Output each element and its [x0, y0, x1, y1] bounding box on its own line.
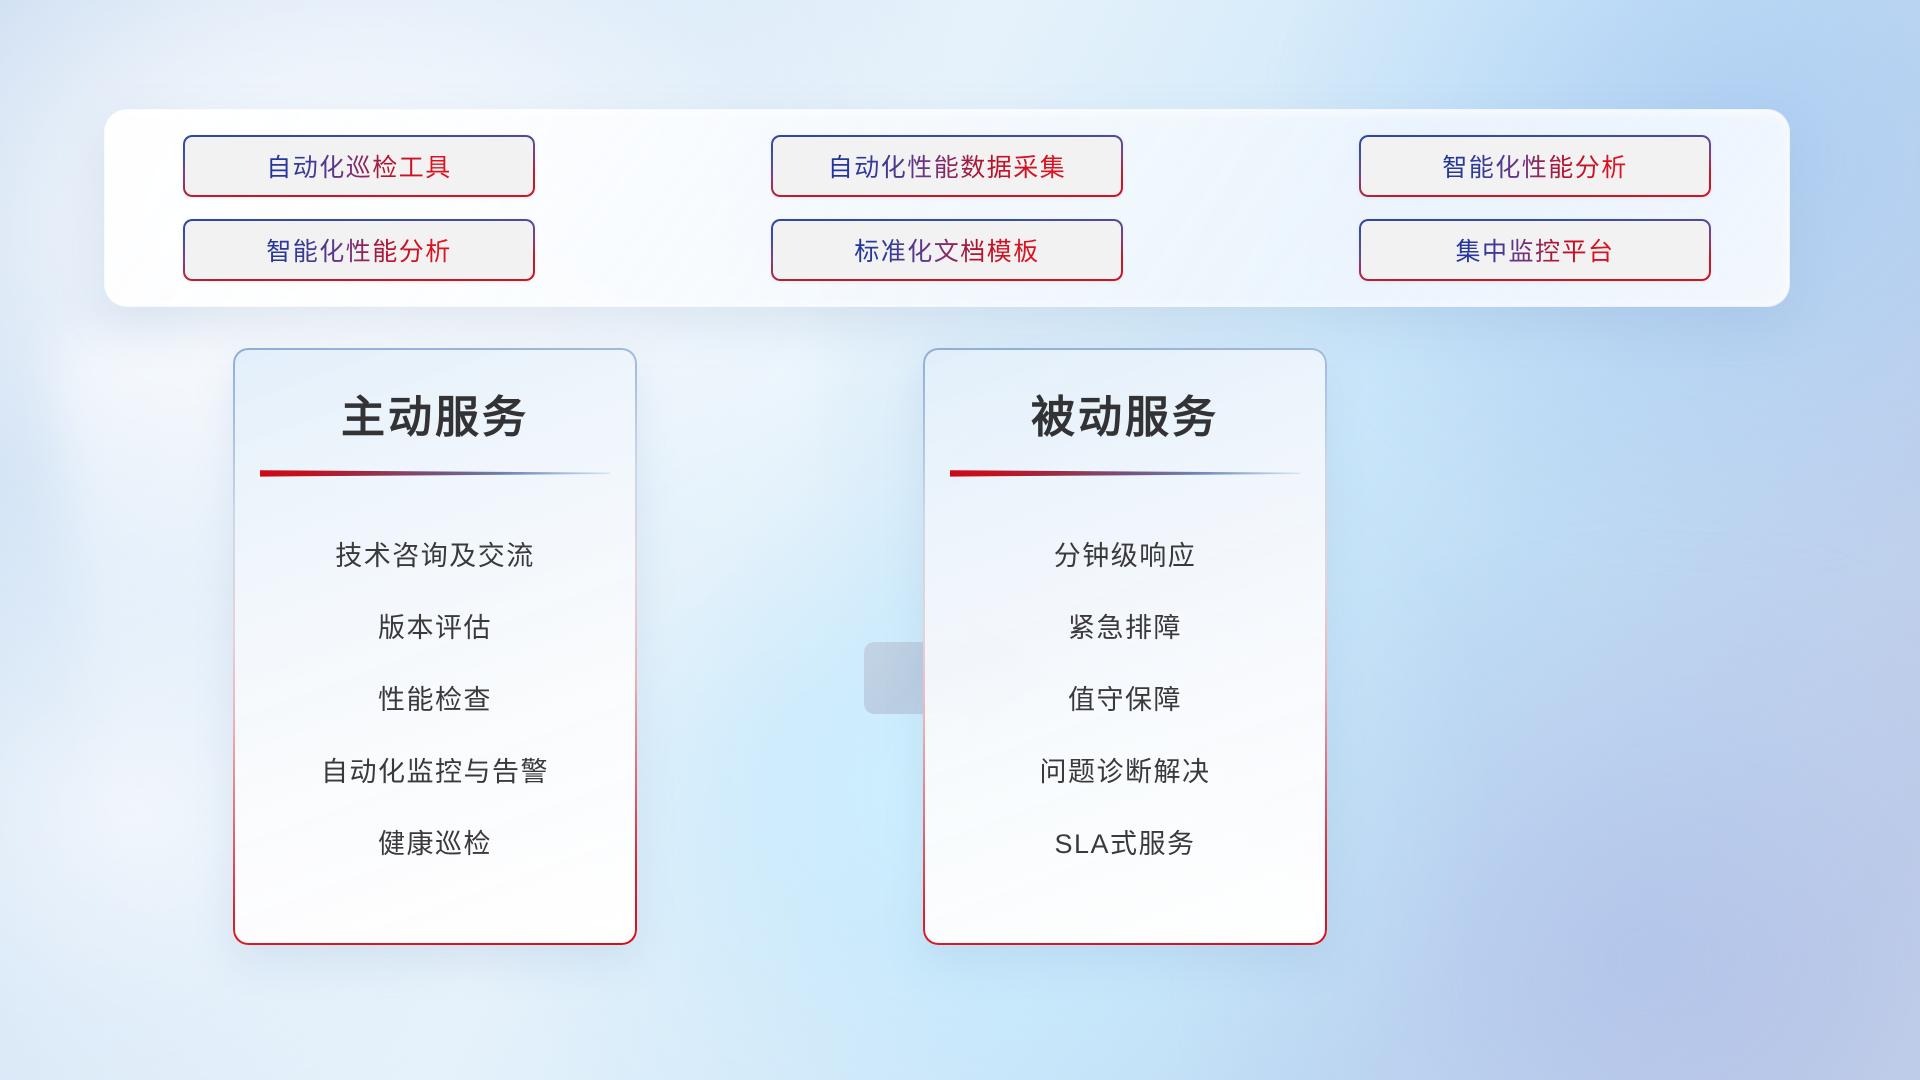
capability-row: 自动化巡检工具 自动化性能数据采集 智能化性能分析	[183, 135, 1711, 197]
service-card-active: 主动服务 技术咨询及交流 版本评估	[233, 348, 637, 945]
capability-panel: 自动化巡检工具 自动化性能数据采集 智能化性能分析 智能化性能分析 标准化文档模…	[105, 110, 1789, 306]
service-list-item: 分钟级响应	[1054, 543, 1197, 570]
card-divider-passive	[950, 468, 1300, 480]
service-list-item: 问题诊断解决	[1040, 759, 1211, 786]
service-list-item: 版本评估	[378, 615, 492, 642]
service-list-active: 技术咨询及交流 版本评估 性能检查 自动化监控与告警 健康巡检	[255, 488, 615, 921]
service-list-passive: 分钟级响应 紧急排障 值守保障 问题诊断解决 SLA式服务	[945, 488, 1305, 921]
service-list-item: 健康巡检	[378, 831, 492, 858]
service-list-item: 技术咨询及交流	[335, 543, 535, 570]
capability-pill-label: 标准化文档模板	[854, 232, 1040, 268]
capability-pill-label: 自动化性能数据采集	[828, 148, 1067, 184]
capability-pill-intelligent-performance-analysis-2[interactable]: 智能化性能分析	[183, 219, 535, 281]
capability-pill-label: 智能化性能分析	[1442, 148, 1628, 184]
service-list-item: 值守保障	[1068, 687, 1182, 714]
capability-pill-auto-performance-data-collection[interactable]: 自动化性能数据采集	[771, 135, 1123, 197]
capability-pill-label: 智能化性能分析	[266, 232, 452, 268]
capability-pill-standard-doc-template[interactable]: 标准化文档模板	[771, 219, 1123, 281]
capability-pill-intelligent-performance-analysis[interactable]: 智能化性能分析	[1359, 135, 1711, 197]
card-title-active: 主动服务	[341, 396, 529, 440]
capability-pill-label: 集中监控平台	[1455, 232, 1614, 268]
card-divider-active	[260, 468, 610, 480]
diagram-stage: 自动化巡检工具 自动化性能数据采集 智能化性能分析 智能化性能分析 标准化文档模…	[0, 0, 1920, 1080]
service-list-item: 性能检查	[378, 687, 492, 714]
service-list-item: SLA式服务	[1054, 831, 1195, 858]
capability-row: 智能化性能分析 标准化文档模板 集中监控平台	[183, 219, 1711, 281]
service-list-item: 自动化监控与告警	[321, 759, 549, 786]
card-title-passive: 被动服务	[1031, 396, 1219, 440]
service-card-passive: 被动服务 分钟级响应 紧急排障	[923, 348, 1327, 945]
service-list-item: 紧急排障	[1068, 615, 1182, 642]
capability-pill-auto-inspection-tool[interactable]: 自动化巡检工具	[183, 135, 535, 197]
capability-pill-label: 自动化巡检工具	[266, 148, 452, 184]
capability-pill-central-monitoring-platform[interactable]: 集中监控平台	[1359, 219, 1711, 281]
